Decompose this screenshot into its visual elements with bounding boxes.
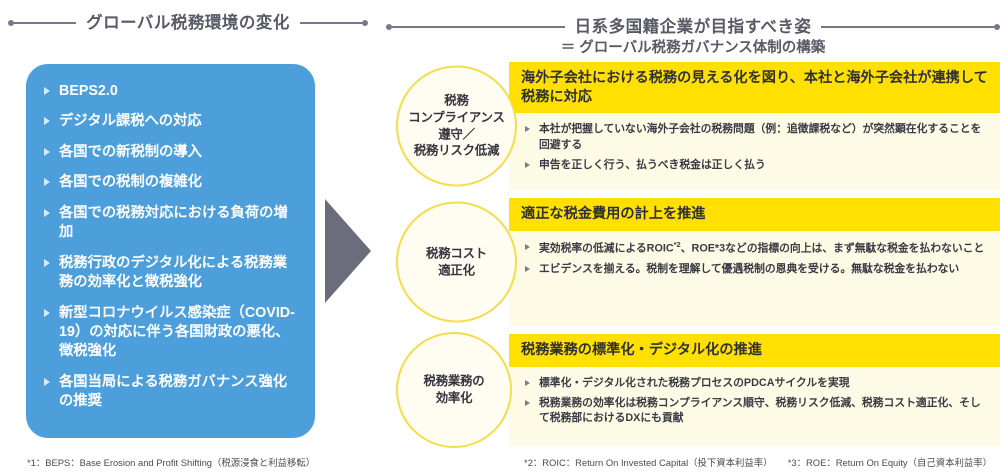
bullet-triangle-icon [525,126,530,132]
bullet-triangle-icon [44,378,50,386]
change-factor-item: 税務行政のデジタル化による税務業務の効率化と徴税強化 [44,254,299,293]
goal-circle-label: 税務 コンプライアンス 遵守／ 税務リスク低減 [408,93,504,159]
change-factor-label: BEPS2.0 [59,82,118,101]
change-factor-label: 各国での税務対応における負荷の増加 [59,204,299,243]
goal-circle: 税務 コンプライアンス 遵守／ 税務リスク低減 [396,66,517,187]
change-factor-item: BEPS2.0 [44,82,299,101]
change-factor-item: 各国当局による税務ガバナンス強化の推奨 [44,373,299,412]
goal-circle-label: 税務コスト 適正化 [426,245,487,278]
goal-circle-label: 税務業務の 効率化 [424,373,485,406]
goal-bullet-label: エビデンスを揃える。税制を理解して優遇税制の恩典を受ける。無駄な税金を払わない [539,262,959,277]
bullet-triangle-icon [44,259,50,267]
footnote-roic: *2：ROIC：Return On Invested Capital（投下資本利… [524,457,773,468]
footnote-roic-roe: *2：ROIC：Return On Invested Capital（投下資本利… [524,455,992,469]
rule-line [300,22,362,24]
goal-bullet: 実効税率の低減によるROIC*2、ROE*3などの指標の向上は、まず無駄な税金を… [525,240,988,257]
bullet-triangle-icon [44,148,50,156]
goal-bullet-text: エビデンスを揃える。税制を理解して優遇税制の恩典を受ける。無駄な税金を払わない [539,263,959,275]
goal-panel-heading: 税務業務の標準化・デジタル化の推進 [509,334,1000,367]
right-arrow-icon [325,199,371,303]
goal-bullet-text: 税務業務の効率化は税務コンプライアンス順守、税務リスク低減、税務コスト適正化、そ… [539,397,981,424]
goal-bullet-text: 実効税率の低減によるROIC [539,242,674,254]
change-factor-item: 新型コロナウイルス感染症（COVID-19）の対応に伴う各国財政の悪化、徴税強化 [44,304,299,362]
bullet-triangle-icon [525,162,530,168]
goal-bullet: 税務業務の効率化は税務コンプライアンス順守、税務リスク低減、税務コスト適正化、そ… [525,396,988,427]
goal-bullet-label: 実効税率の低減によるROIC*2、ROE*3などの指標の向上は、まず無駄な税金を… [539,240,984,257]
header-rule-right [821,24,1000,30]
rule-dot-icon [362,20,368,26]
goal-section: 税務業務の標準化・デジタル化の推進標準化・デジタル化された税務プロセスのPDCA… [396,334,1000,446]
global-tax-environment-box: BEPS2.0デジタル課税への対応各国での新税制の導入各国での税制の複雑化各国で… [26,64,315,438]
change-factor-list: BEPS2.0デジタル課税への対応各国での新税制の導入各国での税制の複雑化各国で… [44,82,299,412]
rule-line [14,22,76,24]
header-rule-left [386,24,565,30]
left-section-header: グローバル税務環境の変化 [8,6,368,40]
right-section-header: 日系多国籍企業が目指すべき姿 ＝ グローバル税務ガバナンス体制の構築 [386,2,1000,52]
goal-bullet: エビデンスを揃える。税制を理解して優遇税制の恩典を受ける。無駄な税金を払わない [525,262,988,277]
goal-bullet-text: 標準化・デジタル化された税務プロセスのPDCAサイクルを実現 [539,377,850,389]
rule-line [392,26,565,28]
change-factor-item: デジタル課税への対応 [44,112,299,131]
change-factor-item: 各国での新税制の導入 [44,143,299,162]
bullet-triangle-icon [44,178,50,186]
rule-line [821,26,994,28]
goal-panel: 適正な税金費用の計上を推進実効税率の低減によるROIC*2、ROE*3などの指標… [509,198,1000,326]
bullet-triangle-icon [44,209,50,217]
goal-panel-body: 実効税率の低減によるROIC*2、ROE*3などの指標の向上は、まず無駄な税金を… [509,231,1000,285]
goal-circle: 税務業務の 効率化 [396,332,512,448]
change-factor-label: デジタル課税への対応 [59,112,202,131]
goal-bullet-text-cont: 、ROE*3などの指標の向上は、まず無駄な税金を払わないこと [681,242,985,254]
bullet-triangle-icon [44,117,50,125]
goal-bullet-label: 申告を正しく行う、払うべき税金は正しく払う [539,158,766,173]
change-factor-label: 各国当局による税務ガバナンス強化の推奨 [59,373,299,412]
goal-bullet-label: 標準化・デジタル化された税務プロセスのPDCAサイクルを実現 [539,376,850,391]
right-header-title: 日系多国籍企業が目指すべき姿 [575,16,812,38]
change-factor-label: 新型コロナウイルス感染症（COVID-19）の対応に伴う各国財政の悪化、徴税強化 [59,304,299,362]
goal-section: 海外子会社における税務の見える化を図り、本社と海外子会社が連携して税務に対応本社… [396,62,1000,190]
goal-panel-heading: 海外子会社における税務の見える化を図り、本社と海外子会社が連携して税務に対応 [509,62,1000,113]
bullet-triangle-icon [525,380,530,386]
change-factor-item: 各国での税制の複雑化 [44,173,299,192]
goal-bullet-label: 税務業務の効率化は税務コンプライアンス順守、税務リスク低減、税務コスト適正化、そ… [539,396,988,427]
goal-panel: 税務業務の標準化・デジタル化の推進標準化・デジタル化された税務プロセスのPDCA… [509,334,1000,446]
right-header-subtitle: ＝ グローバル税務ガバナンス体制の構築 [561,39,826,58]
right-header-title-row: 日系多国籍企業が目指すべき姿 [386,16,1000,38]
change-factor-label: 各国での税制の複雑化 [59,173,202,192]
bullet-triangle-icon [44,309,50,317]
goal-panel-heading: 適正な税金費用の計上を推進 [509,198,1000,231]
bullet-triangle-icon [44,87,50,95]
header-rule-right [300,20,368,26]
bullet-triangle-icon [525,266,530,272]
footnote-roe: *3：ROE：Return On Equity（自己資本利益率） [788,457,992,468]
footnote-beps: *1：BEPS：Base Erosion and Profit Shifting… [27,455,315,469]
goal-bullet: 申告を正しく行う、払うべき税金は正しく払う [525,158,988,173]
change-factor-item: 各国での税務対応における負荷の増加 [44,204,299,243]
goal-bullet-text: 申告を正しく行う、払うべき税金は正しく払う [539,159,766,171]
rule-dot-icon [994,24,1000,30]
left-header-title: グローバル税務環境の変化 [86,12,290,34]
goal-panel-body: 標準化・デジタル化された税務プロセスのPDCAサイクルを実現税務業務の効率化は税… [509,367,1000,435]
goal-panel-body: 本社が把握していない海外子会社の税務問題（例：追徴課税など）が突然顕在化すること… [509,113,1000,181]
bullet-triangle-icon [525,400,530,406]
change-factor-label: 税務行政のデジタル化による税務業務の効率化と徴税強化 [59,254,299,293]
goal-panel: 海外子会社における税務の見える化を図り、本社と海外子会社が連携して税務に対応本社… [509,62,1000,190]
header-rule-left [8,20,76,26]
goal-circle: 税務コスト 適正化 [396,202,517,323]
goal-bullet: 標準化・デジタル化された税務プロセスのPDCAサイクルを実現 [525,376,988,391]
goal-bullet-label: 本社が把握していない海外子会社の税務問題（例：追徴課税など）が突然顕在化すること… [539,122,988,153]
goal-bullet: 本社が把握していない海外子会社の税務問題（例：追徴課税など）が突然顕在化すること… [525,122,988,153]
change-factor-label: 各国での新税制の導入 [59,143,202,162]
footnote-marker: *2 [674,240,681,249]
goal-bullet-text: 本社が把握していない海外子会社の税務問題（例：追徴課税など）が突然顕在化すること… [539,123,981,150]
bullet-triangle-icon [525,244,530,250]
goal-section: 適正な税金費用の計上を推進実効税率の低減によるROIC*2、ROE*3などの指標… [396,198,1000,326]
